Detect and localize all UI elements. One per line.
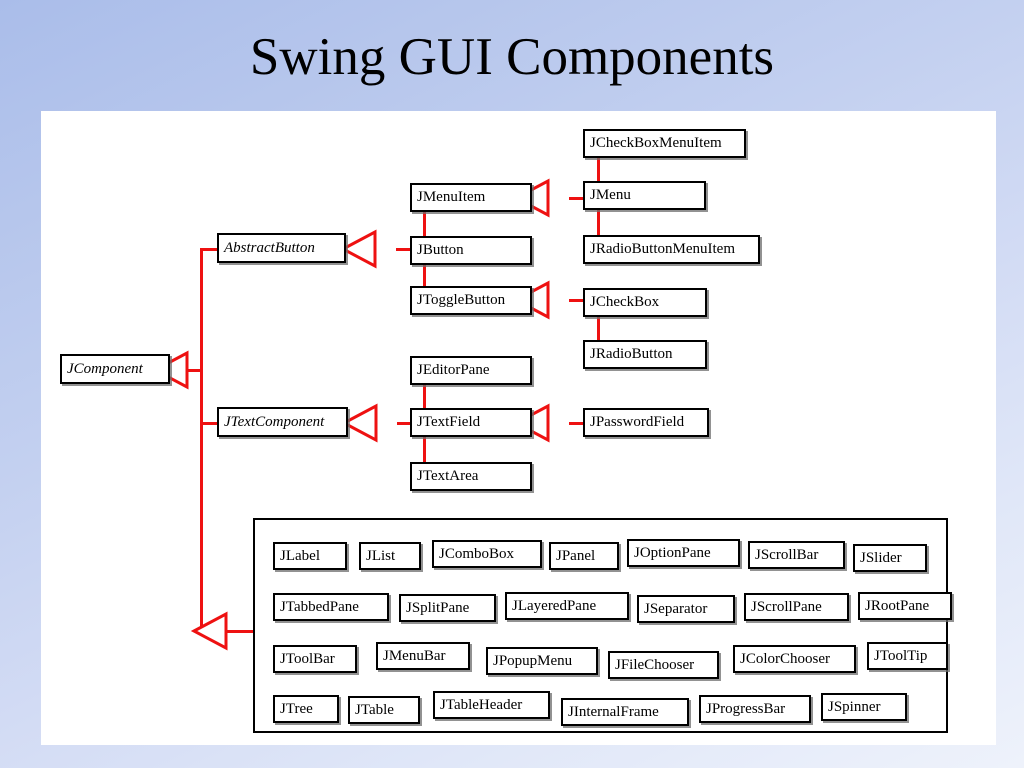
class-node-jcheckbox[interactable]: JCheckBox xyxy=(583,288,707,317)
class-node-jtabbedpane[interactable]: JTabbedPane xyxy=(273,593,389,621)
class-node-jtoolbar[interactable]: JToolBar xyxy=(273,645,357,673)
class-node-jcolorchooser[interactable]: JColorChooser xyxy=(733,645,856,673)
class-node-jmenubar[interactable]: JMenuBar xyxy=(376,642,470,670)
class-node-jtextfield[interactable]: JTextField xyxy=(410,408,532,437)
class-node-jtextcomponent[interactable]: JTextComponent xyxy=(217,407,348,437)
class-node-jcombobox[interactable]: JComboBox xyxy=(432,540,542,568)
class-node-jtableheader[interactable]: JTableHeader xyxy=(433,691,550,719)
class-node-jseparator[interactable]: JSeparator xyxy=(637,595,735,623)
class-node-jinternalframe[interactable]: JInternalFrame xyxy=(561,698,689,726)
class-node-jtree[interactable]: JTree xyxy=(273,695,339,723)
class-node-jtextarea[interactable]: JTextArea xyxy=(410,462,532,491)
class-node-jradiobutton[interactable]: JRadioButton xyxy=(583,340,707,369)
class-node-jbutton[interactable]: JButton xyxy=(410,236,532,265)
class-node-jslider[interactable]: JSlider xyxy=(853,544,927,572)
class-node-jtooltip[interactable]: JToolTip xyxy=(867,642,948,670)
class-node-jcheckboxmenuitem[interactable]: JCheckBoxMenuItem xyxy=(583,129,746,158)
class-node-joptionpane[interactable]: JOptionPane xyxy=(627,539,740,567)
class-node-jlabel[interactable]: JLabel xyxy=(273,542,347,570)
other-components-group: JLabel JList JComboBox JPanel JOptionPan… xyxy=(253,518,948,733)
class-node-jtogglebutton[interactable]: JToggleButton xyxy=(410,286,532,315)
class-node-jrootpane[interactable]: JRootPane xyxy=(858,592,952,620)
link-jcomponent-spine xyxy=(200,248,203,631)
class-node-jlist[interactable]: JList xyxy=(359,542,421,570)
class-node-jfilechooser[interactable]: JFileChooser xyxy=(608,651,719,679)
page-title: Swing GUI Components xyxy=(0,26,1024,88)
class-node-jscrollbar[interactable]: JScrollBar xyxy=(748,541,845,569)
class-node-jspinner[interactable]: JSpinner xyxy=(821,693,907,721)
class-node-jmenu[interactable]: JMenu xyxy=(583,181,706,210)
class-node-jpanel[interactable]: JPanel xyxy=(549,542,619,570)
class-node-jlayeredpane[interactable]: JLayeredPane xyxy=(505,592,629,620)
class-node-abstractbutton[interactable]: AbstractButton xyxy=(217,233,346,263)
class-node-jradiobuttonmenuitem[interactable]: JRadioButtonMenuItem xyxy=(583,235,760,264)
class-node-jprogressbar[interactable]: JProgressBar xyxy=(699,695,811,723)
diagram-canvas: JComponent AbstractButton JTextComponent… xyxy=(41,111,996,745)
class-node-jtable[interactable]: JTable xyxy=(348,696,420,724)
class-node-jscrollpane[interactable]: JScrollPane xyxy=(744,593,849,621)
slide: Swing GUI Components xyxy=(0,0,1024,768)
class-node-jsplitpane[interactable]: JSplitPane xyxy=(399,594,496,622)
class-node-jmenuitem[interactable]: JMenuItem xyxy=(410,183,532,212)
class-node-jpopupmenu[interactable]: JPopupMenu xyxy=(486,647,598,675)
class-node-jcomponent[interactable]: JComponent xyxy=(60,354,170,384)
class-node-jpasswordfield[interactable]: JPasswordField xyxy=(583,408,709,437)
class-node-jeditorpane[interactable]: JEditorPane xyxy=(410,356,532,385)
link-group-stub xyxy=(227,630,254,633)
